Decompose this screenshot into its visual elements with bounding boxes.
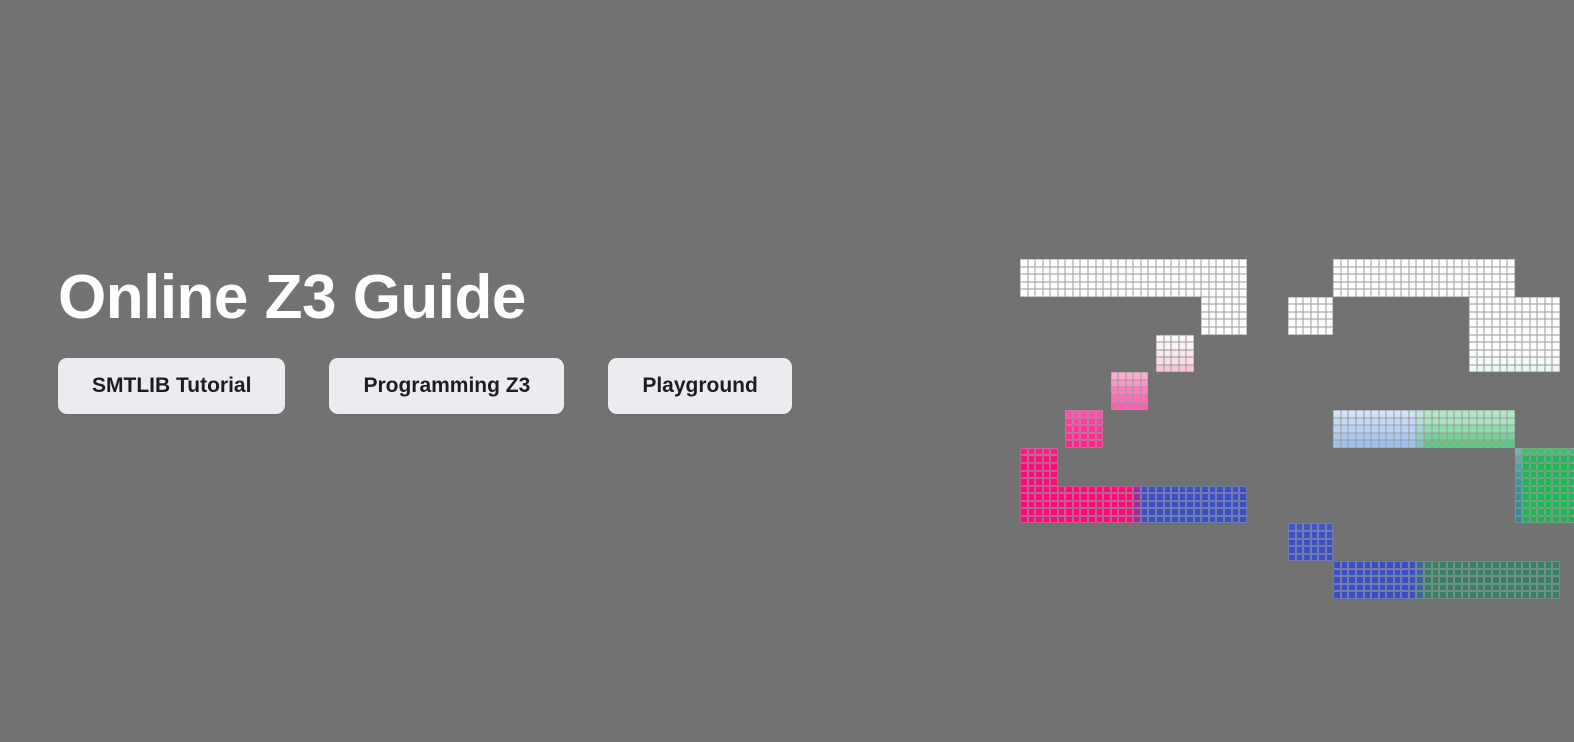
logo-pixel <box>1080 508 1088 516</box>
logo-pixel <box>1507 267 1515 275</box>
logo-pixel <box>1028 282 1036 290</box>
logo-pixel <box>1020 486 1028 494</box>
logo-pixel <box>1432 569 1440 577</box>
logo-pixel <box>1454 289 1462 297</box>
logo-pixel <box>1326 554 1334 562</box>
logo-pixel <box>1103 267 1111 275</box>
logo-pixel <box>1401 410 1409 418</box>
logo-pixel <box>1394 282 1402 290</box>
logo-pixel <box>1043 289 1051 297</box>
logo-pixel <box>1073 410 1081 418</box>
logo-pixel <box>1348 282 1356 290</box>
logo-pixel <box>1201 501 1209 509</box>
logo-pixel <box>1386 569 1394 577</box>
logo-pixel <box>1035 478 1043 486</box>
logo-pixel <box>1545 576 1553 584</box>
logo-pixel <box>1522 455 1530 463</box>
logo-pixel <box>1103 274 1111 282</box>
logo-pixel <box>1515 304 1523 312</box>
logo-pixel <box>1537 591 1545 599</box>
logo-pixel <box>1394 584 1402 592</box>
logo-pixel <box>1356 289 1364 297</box>
logo-pixel <box>1545 327 1553 335</box>
logo-pixel <box>1043 448 1051 456</box>
logo-pixel <box>1386 274 1394 282</box>
logo-pixel <box>1156 274 1164 282</box>
logo-pixel <box>1156 282 1164 290</box>
logo-pixel <box>1356 282 1364 290</box>
logo-pixel <box>1530 304 1538 312</box>
logo-pixel <box>1126 486 1134 494</box>
logo-pixel <box>1239 297 1247 305</box>
logo-pixel <box>1552 335 1560 343</box>
logo-pixel <box>1500 282 1508 290</box>
logo-pixel <box>1484 335 1492 343</box>
logo-pixel <box>1118 259 1126 267</box>
logo-pixel <box>1073 289 1081 297</box>
logo-pixel <box>1141 387 1149 395</box>
logo-pixel <box>1209 267 1217 275</box>
logo-pixel <box>1232 501 1240 509</box>
logo-pixel <box>1179 350 1187 358</box>
logo-pixel <box>1341 576 1349 584</box>
logo-pixel <box>1164 508 1172 516</box>
logo-pixel <box>1522 478 1530 486</box>
logo-pixel <box>1401 425 1409 433</box>
logo-pixel <box>1477 440 1485 448</box>
logo-pixel <box>1073 433 1081 441</box>
logo-pixel <box>1103 508 1111 516</box>
logo-pixel <box>1043 274 1051 282</box>
logo-pixel <box>1537 455 1545 463</box>
logo-pixel <box>1065 418 1073 426</box>
logo-pixel <box>1545 448 1553 456</box>
logo-pixel <box>1065 425 1073 433</box>
logo-pixel <box>1216 267 1224 275</box>
logo-pixel <box>1469 365 1477 373</box>
logo-pixel <box>1401 433 1409 441</box>
smtlib-tutorial-button[interactable]: SMTLIB Tutorial <box>58 358 285 414</box>
logo-pixel <box>1171 493 1179 501</box>
logo-pixel <box>1507 282 1515 290</box>
logo-pixel <box>1209 516 1217 524</box>
logo-pixel <box>1537 576 1545 584</box>
logo-pixel <box>1020 508 1028 516</box>
logo-pixel <box>1454 440 1462 448</box>
logo-pixel <box>1356 561 1364 569</box>
logo-pixel <box>1552 591 1560 599</box>
logo-pixel <box>1492 259 1500 267</box>
logo-pixel <box>1073 259 1081 267</box>
logo-pixel <box>1568 478 1574 486</box>
cta-button-row: SMTLIB Tutorial Programming Z3 Playgroun… <box>58 358 958 414</box>
logo-pixel <box>1537 365 1545 373</box>
logo-pixel <box>1179 357 1187 365</box>
logo-pixel <box>1371 440 1379 448</box>
logo-pixel <box>1379 259 1387 267</box>
logo-pixel <box>1035 501 1043 509</box>
logo-pixel <box>1156 493 1164 501</box>
logo-pixel <box>1522 576 1530 584</box>
logo-pixel <box>1379 561 1387 569</box>
logo-pixel <box>1058 493 1066 501</box>
logo-pixel <box>1156 335 1164 343</box>
logo-pixel <box>1186 486 1194 494</box>
logo-pixel <box>1447 569 1455 577</box>
logo-pixel <box>1394 561 1402 569</box>
logo-pixel <box>1537 312 1545 320</box>
logo-pixel <box>1371 584 1379 592</box>
logo-pixel <box>1179 516 1187 524</box>
logo-pixel <box>1224 259 1232 267</box>
logo-pixel <box>1416 425 1424 433</box>
logo-pixel <box>1348 591 1356 599</box>
logo-pixel <box>1103 516 1111 524</box>
logo-pixel <box>1462 274 1470 282</box>
logo-pixel <box>1088 267 1096 275</box>
logo-pixel <box>1477 304 1485 312</box>
logo-pixel <box>1416 576 1424 584</box>
logo-pixel <box>1507 576 1515 584</box>
logo-pixel <box>1568 493 1574 501</box>
logo-pixel <box>1348 267 1356 275</box>
logo-pixel <box>1164 493 1172 501</box>
logo-pixel <box>1560 508 1568 516</box>
logo-pixel <box>1371 274 1379 282</box>
logo-pixel <box>1522 501 1530 509</box>
logo-pixel <box>1141 516 1149 524</box>
logo-pixel <box>1439 576 1447 584</box>
logo-pixel <box>1537 350 1545 358</box>
logo-pixel <box>1201 297 1209 305</box>
logo-pixel <box>1088 493 1096 501</box>
logo-pixel <box>1447 576 1455 584</box>
logo-pixel <box>1537 297 1545 305</box>
logo-pixel <box>1364 576 1372 584</box>
logo-pixel <box>1401 274 1409 282</box>
logo-pixel <box>1515 350 1523 358</box>
logo-pixel <box>1386 584 1394 592</box>
logo-pixel <box>1394 576 1402 584</box>
logo-pixel <box>1303 304 1311 312</box>
logo-pixel <box>1545 342 1553 350</box>
logo-pixel <box>1401 418 1409 426</box>
logo-pixel <box>1232 282 1240 290</box>
logo-pixel <box>1515 576 1523 584</box>
logo-pixel <box>1409 282 1417 290</box>
logo-pixel <box>1515 508 1523 516</box>
logo-pixel <box>1439 433 1447 441</box>
logo-pixel <box>1439 569 1447 577</box>
logo-pixel <box>1050 289 1058 297</box>
logo-pixel <box>1371 410 1379 418</box>
logo-pixel <box>1035 282 1043 290</box>
logo-pixel <box>1386 433 1394 441</box>
logo-pixel <box>1492 335 1500 343</box>
logo-pixel <box>1020 267 1028 275</box>
hero-text-block: Online Z3 Guide SMTLIB Tutorial Programm… <box>58 262 958 414</box>
logo-pixel <box>1088 508 1096 516</box>
logo-pixel <box>1500 591 1508 599</box>
logo-pixel <box>1148 486 1156 494</box>
logo-pixel <box>1058 282 1066 290</box>
logo-pixel <box>1530 561 1538 569</box>
logo-pixel <box>1386 576 1394 584</box>
logo-pixel <box>1469 319 1477 327</box>
logo-pixel <box>1333 282 1341 290</box>
logo-pixel <box>1341 561 1349 569</box>
logo-pixel <box>1148 516 1156 524</box>
logo-pixel <box>1394 274 1402 282</box>
logo-pixel <box>1439 410 1447 418</box>
logo-pixel <box>1073 267 1081 275</box>
logo-pixel <box>1477 319 1485 327</box>
logo-pixel <box>1545 365 1553 373</box>
logo-pixel <box>1462 410 1470 418</box>
logo-pixel <box>1477 365 1485 373</box>
logo-pixel <box>1522 591 1530 599</box>
logo-pixel <box>1500 259 1508 267</box>
logo-pixel <box>1462 289 1470 297</box>
logo-pixel <box>1341 418 1349 426</box>
logo-pixel <box>1043 471 1051 479</box>
logo-pixel <box>1028 463 1036 471</box>
logo-pixel <box>1341 259 1349 267</box>
logo-pixel <box>1333 274 1341 282</box>
logo-pixel <box>1454 259 1462 267</box>
logo-pixel <box>1065 267 1073 275</box>
logo-pixel <box>1507 410 1515 418</box>
logo-pixel <box>1522 312 1530 320</box>
logo-pixel <box>1326 304 1334 312</box>
logo-pixel <box>1164 350 1172 358</box>
logo-pixel <box>1318 554 1326 562</box>
logo-pixel <box>1133 395 1141 403</box>
logo-pixel <box>1552 448 1560 456</box>
logo-pixel <box>1424 418 1432 426</box>
logo-pixel <box>1537 319 1545 327</box>
logo-pixel <box>1462 440 1470 448</box>
logo-pixel <box>1500 584 1508 592</box>
logo-pixel <box>1171 289 1179 297</box>
logo-pixel <box>1141 274 1149 282</box>
logo-pixel <box>1432 425 1440 433</box>
logo-pixel <box>1111 380 1119 388</box>
logo-pixel <box>1560 516 1568 524</box>
logo-pixel <box>1500 297 1508 305</box>
logo-pixel <box>1477 259 1485 267</box>
page-title: Online Z3 Guide <box>58 262 958 334</box>
logo-pixel <box>1537 486 1545 494</box>
logo-pixel <box>1179 493 1187 501</box>
logo-pixel <box>1416 433 1424 441</box>
logo-pixel <box>1232 312 1240 320</box>
logo-pixel <box>1537 561 1545 569</box>
logo-pixel <box>1424 259 1432 267</box>
logo-pixel <box>1296 523 1304 531</box>
logo-pixel <box>1401 561 1409 569</box>
logo-pixel <box>1394 289 1402 297</box>
logo-pixel <box>1364 561 1372 569</box>
logo-pixel <box>1409 561 1417 569</box>
logo-pixel <box>1288 531 1296 539</box>
logo-pixel <box>1333 591 1341 599</box>
logo-pixel <box>1500 304 1508 312</box>
logo-pixel <box>1239 493 1247 501</box>
logo-pixel <box>1118 289 1126 297</box>
logo-pixel <box>1201 493 1209 501</box>
logo-pixel <box>1530 365 1538 373</box>
logo-pixel <box>1111 493 1119 501</box>
logo-pixel <box>1050 455 1058 463</box>
logo-pixel <box>1333 584 1341 592</box>
logo-pixel <box>1133 403 1141 411</box>
logo-pixel <box>1416 259 1424 267</box>
logo-pixel <box>1348 259 1356 267</box>
logo-pixel <box>1364 267 1372 275</box>
logo-pixel <box>1409 259 1417 267</box>
logo-pixel <box>1507 289 1515 297</box>
logo-pixel <box>1028 516 1036 524</box>
logo-pixel <box>1179 501 1187 509</box>
logo-pixel <box>1371 267 1379 275</box>
logo-pixel <box>1080 486 1088 494</box>
logo-pixel <box>1515 319 1523 327</box>
playground-button[interactable]: Playground <box>608 358 792 414</box>
logo-pixel <box>1522 584 1530 592</box>
logo-pixel <box>1216 501 1224 509</box>
logo-pixel <box>1043 501 1051 509</box>
logo-pixel <box>1103 282 1111 290</box>
logo-pixel <box>1126 267 1134 275</box>
logo-pixel <box>1326 539 1334 547</box>
logo-pixel <box>1560 463 1568 471</box>
logo-pixel <box>1500 342 1508 350</box>
logo-pixel <box>1379 410 1387 418</box>
logo-pixel <box>1507 357 1515 365</box>
logo-pixel <box>1416 591 1424 599</box>
logo-pixel <box>1080 418 1088 426</box>
logo-pixel <box>1111 486 1119 494</box>
logo-pixel <box>1492 289 1500 297</box>
logo-pixel <box>1409 410 1417 418</box>
logo-pixel <box>1545 591 1553 599</box>
logo-pixel <box>1484 312 1492 320</box>
logo-pixel <box>1171 350 1179 358</box>
logo-pixel <box>1522 304 1530 312</box>
logo-pixel <box>1379 576 1387 584</box>
logo-pixel <box>1065 274 1073 282</box>
logo-pixel <box>1088 289 1096 297</box>
logo-pixel <box>1477 282 1485 290</box>
logo-pixel <box>1530 335 1538 343</box>
logo-pixel <box>1545 304 1553 312</box>
logo-pixel <box>1118 282 1126 290</box>
logo-pixel <box>1469 584 1477 592</box>
logo-pixel <box>1552 319 1560 327</box>
logo-pixel <box>1216 312 1224 320</box>
logo-pixel <box>1126 516 1134 524</box>
logo-pixel <box>1043 259 1051 267</box>
logo-pixel <box>1043 267 1051 275</box>
logo-pixel <box>1379 569 1387 577</box>
programming-z3-button[interactable]: Programming Z3 <box>329 358 564 414</box>
logo-pixel <box>1164 365 1172 373</box>
logo-pixel <box>1073 282 1081 290</box>
logo-pixel <box>1148 493 1156 501</box>
logo-pixel <box>1356 440 1364 448</box>
logo-pixel <box>1096 410 1104 418</box>
logo-pixel <box>1364 259 1372 267</box>
logo-pixel <box>1050 501 1058 509</box>
logo-pixel <box>1035 508 1043 516</box>
logo-pixel <box>1318 523 1326 531</box>
logo-pixel <box>1239 508 1247 516</box>
logo-pixel <box>1454 418 1462 426</box>
logo-pixel <box>1371 576 1379 584</box>
logo-pixel <box>1484 433 1492 441</box>
logo-pixel <box>1379 289 1387 297</box>
logo-pixel <box>1080 440 1088 448</box>
logo-pixel <box>1058 486 1066 494</box>
logo-pixel <box>1103 289 1111 297</box>
logo-pixel <box>1186 501 1194 509</box>
logo-pixel <box>1568 501 1574 509</box>
logo-pixel <box>1156 350 1164 358</box>
logo-pixel <box>1318 539 1326 547</box>
logo-pixel <box>1469 267 1477 275</box>
logo-pixel <box>1333 576 1341 584</box>
logo-pixel <box>1171 365 1179 373</box>
logo-pixel <box>1179 508 1187 516</box>
logo-pixel <box>1065 440 1073 448</box>
logo-pixel <box>1545 335 1553 343</box>
logo-pixel <box>1484 297 1492 305</box>
logo-pixel <box>1341 410 1349 418</box>
logo-pixel <box>1394 259 1402 267</box>
logo-pixel <box>1522 350 1530 358</box>
logo-pixel <box>1020 282 1028 290</box>
logo-pixel <box>1379 584 1387 592</box>
logo-pixel <box>1364 410 1372 418</box>
logo-pixel <box>1439 591 1447 599</box>
logo-pixel <box>1035 267 1043 275</box>
logo-pixel <box>1318 546 1326 554</box>
logo-pixel <box>1080 274 1088 282</box>
logo-pixel <box>1333 425 1341 433</box>
logo-pixel <box>1484 274 1492 282</box>
logo-pixel <box>1515 486 1523 494</box>
logo-pixel <box>1530 297 1538 305</box>
logo-pixel <box>1020 455 1028 463</box>
logo-pixel <box>1500 410 1508 418</box>
logo-pixel <box>1043 463 1051 471</box>
logo-pixel <box>1311 304 1319 312</box>
logo-pixel <box>1073 425 1081 433</box>
logo-pixel <box>1296 546 1304 554</box>
logo-pixel <box>1088 274 1096 282</box>
logo-pixel <box>1537 508 1545 516</box>
logo-pixel <box>1530 591 1538 599</box>
logo-pixel <box>1552 569 1560 577</box>
logo-pixel <box>1454 569 1462 577</box>
logo-pixel <box>1224 319 1232 327</box>
logo-pixel <box>1409 267 1417 275</box>
logo-pixel <box>1080 267 1088 275</box>
logo-pixel <box>1171 335 1179 343</box>
logo-pixel <box>1288 327 1296 335</box>
logo-pixel <box>1303 539 1311 547</box>
